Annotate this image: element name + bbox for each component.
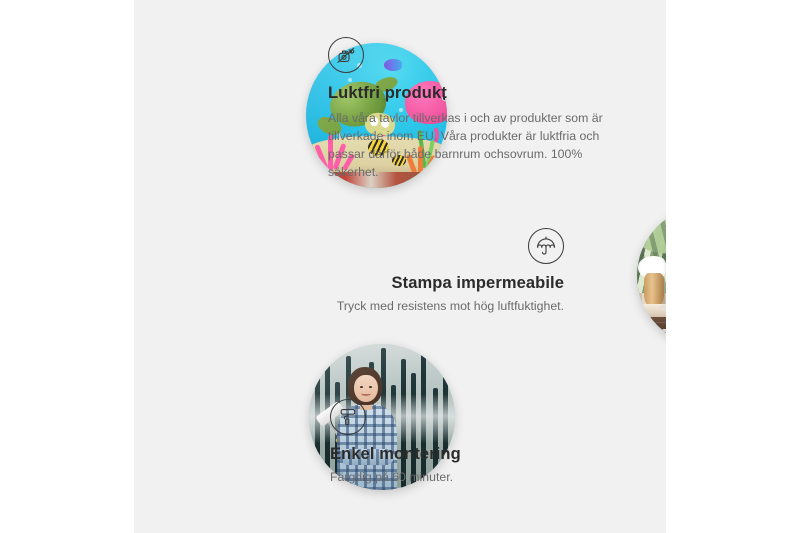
product-feature-banner: Luktfri produkt Alla våra tavlor tillver…: [0, 0, 800, 533]
drawer-handle: [662, 329, 666, 332]
icon-wrap: [328, 37, 628, 73]
feature-odourless: Luktfri produkt Alla våra tavlor tillver…: [328, 37, 628, 181]
smile: [361, 392, 370, 396]
feature-title: Enkel montering: [330, 444, 630, 465]
vase: [644, 273, 664, 307]
feature-easy-install: Enkel montering Färgdig på 60 minuter.: [330, 399, 630, 486]
feature-body: Tryck med resistens mot hög luftfuktighe…: [194, 297, 564, 315]
umbrella-icon: [528, 228, 564, 264]
icon-wrap: [194, 228, 564, 273]
photo-bathroom-tropical-wallpaper[interactable]: [637, 206, 666, 346]
no-perfume-icon: [328, 37, 364, 73]
paint-roller-icon: [330, 399, 366, 435]
icon-wrap: [330, 399, 630, 435]
feature-title: Stampa impermeabile: [194, 273, 564, 294]
feature-body: Färgdig på 60 minuter.: [330, 468, 630, 486]
eye: [360, 386, 363, 388]
feature-waterproof: Stampa impermeabile Tryck med resistens …: [194, 228, 564, 315]
feature-title: Luktfri produkt: [328, 83, 628, 104]
feature-body: Alla våra tavlor tillverkas i och av pro…: [328, 109, 620, 181]
eye: [369, 386, 372, 388]
feature-panel: Luktfri produkt Alla våra tavlor tillver…: [134, 0, 666, 533]
